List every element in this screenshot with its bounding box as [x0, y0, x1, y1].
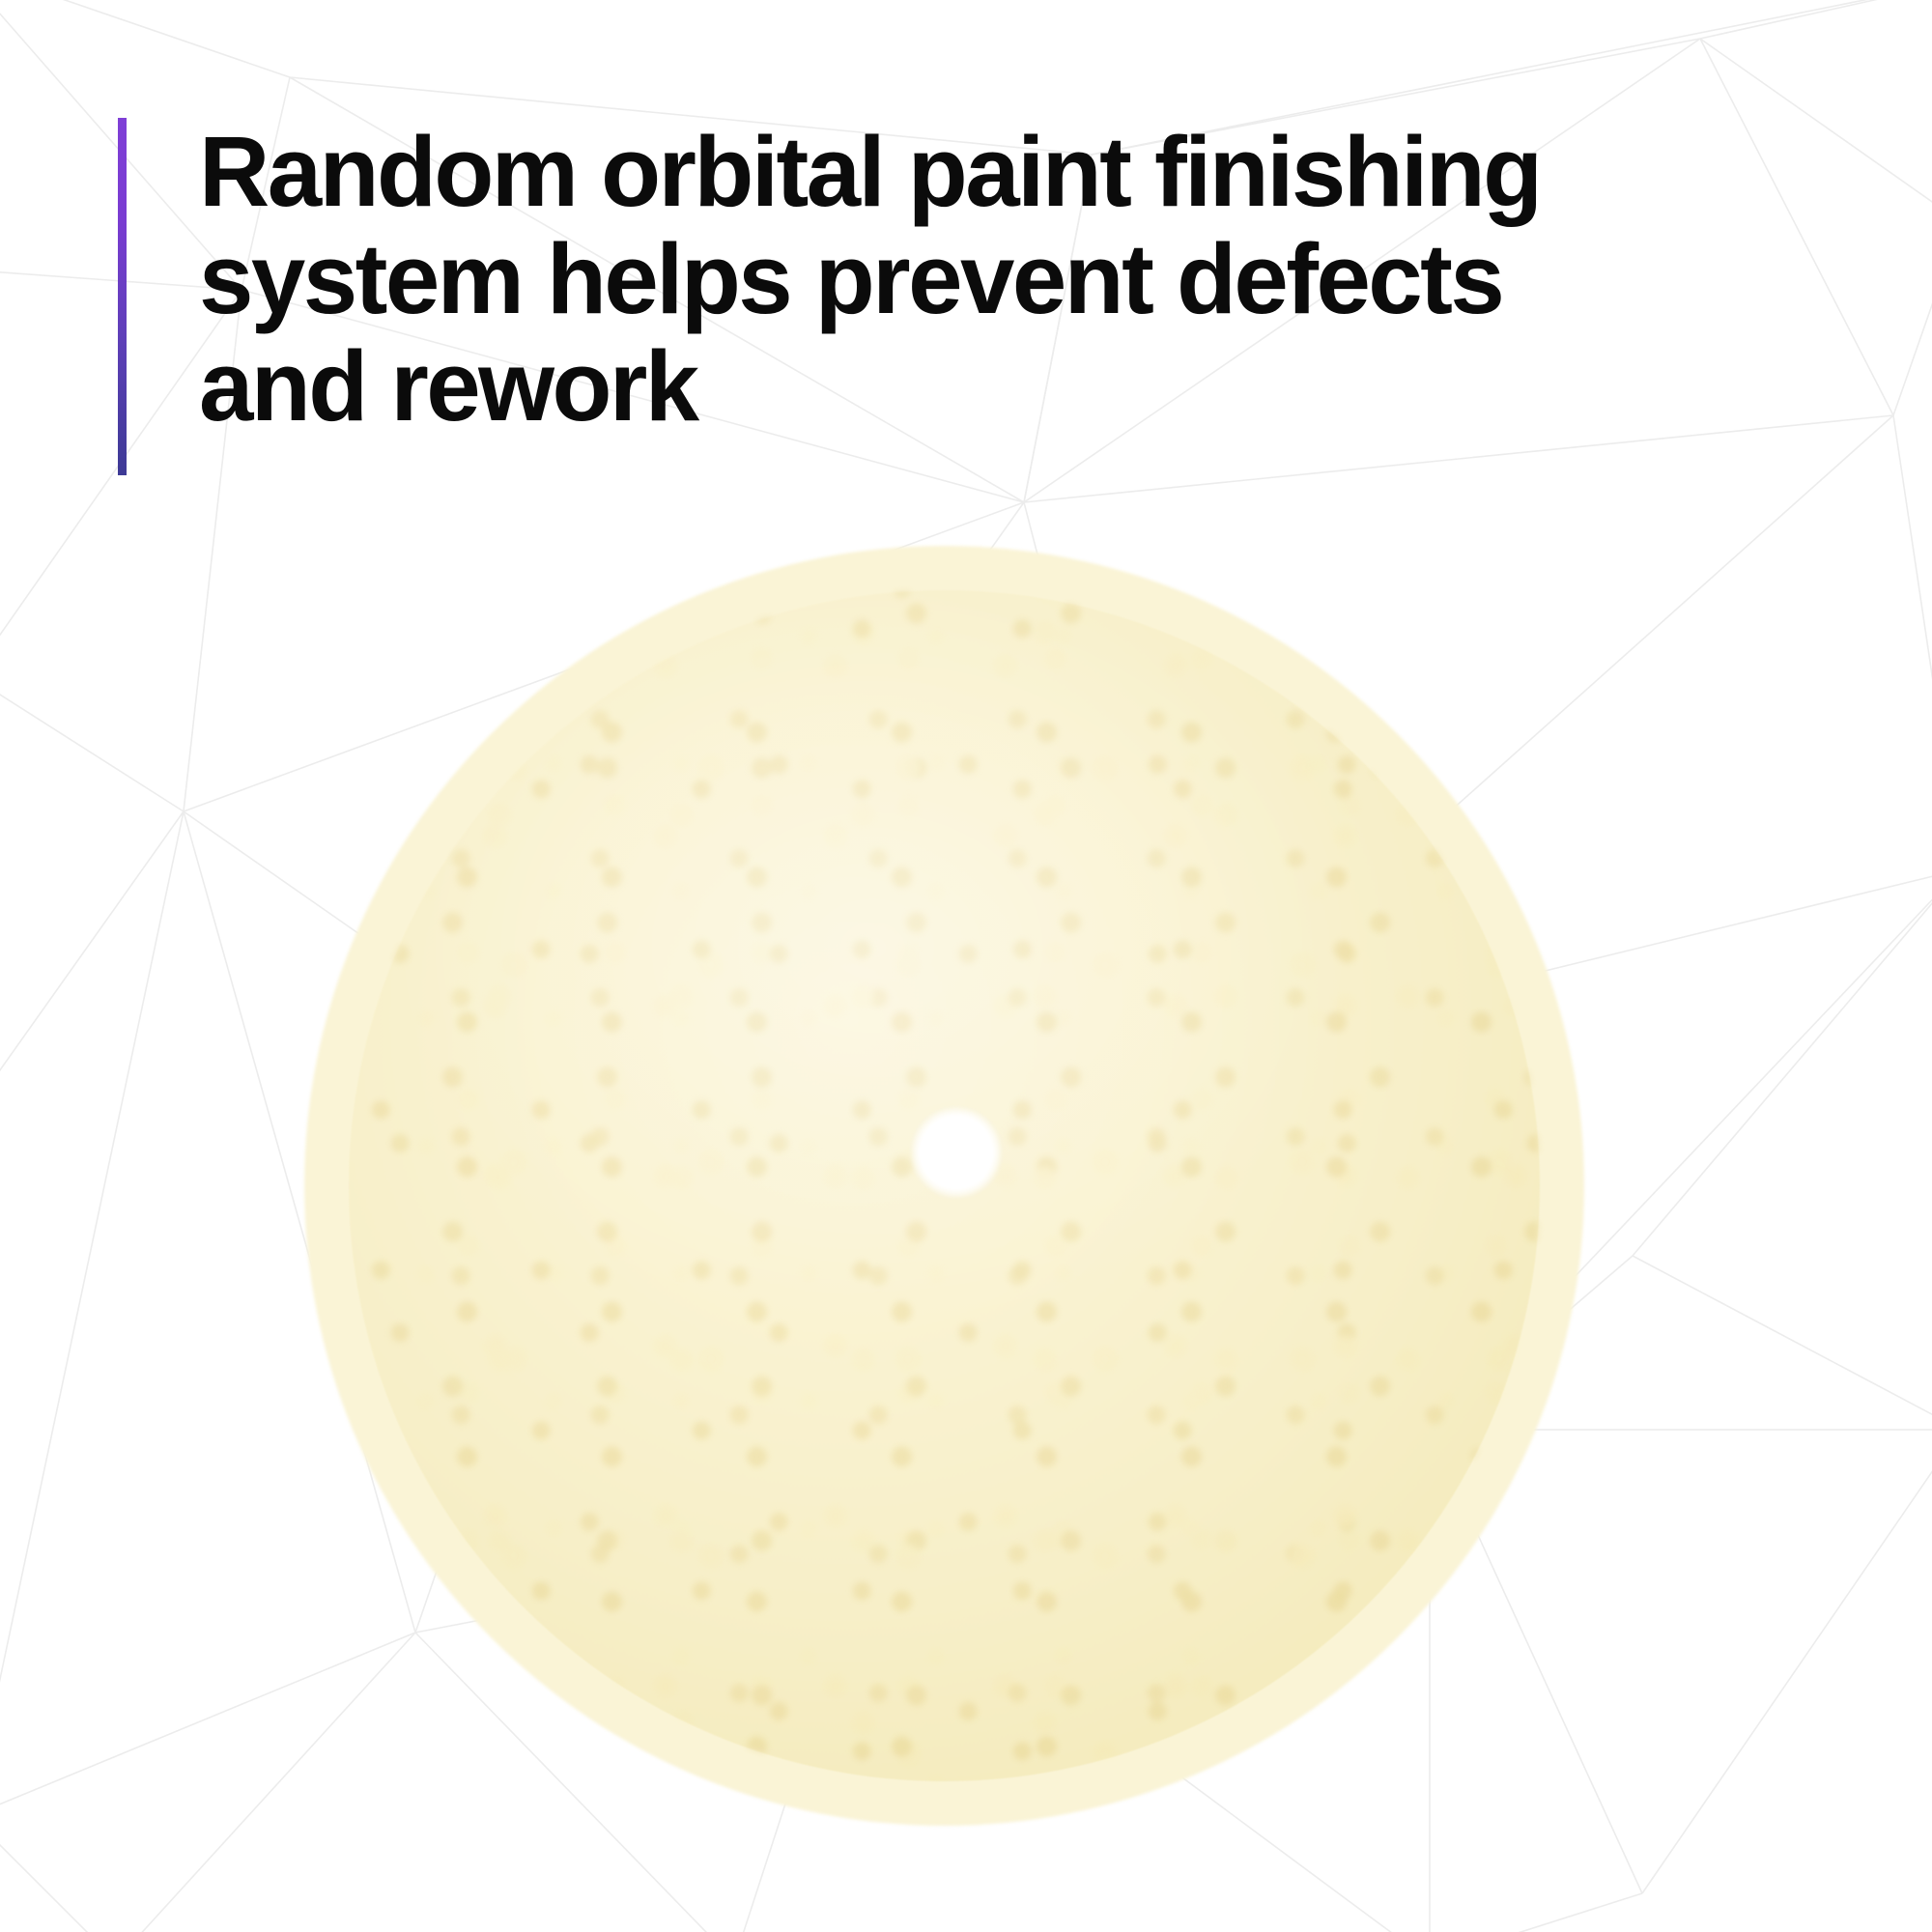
marketing-tile: Random orbital paint finishing system he… [0, 0, 1932, 1932]
product-image-wool-polishing-pad [304, 546, 1584, 1826]
headline-line-3: and rework [199, 332, 1541, 440]
headline-line-2: system helps prevent defects [199, 225, 1541, 332]
page-title: Random orbital paint finishing system he… [199, 118, 1561, 475]
headline-line-1: Random orbital paint finishing [199, 118, 1541, 225]
headline-block: Random orbital paint finishing system he… [118, 118, 1561, 475]
accent-bar [118, 118, 127, 475]
pad-center-hole [920, 1116, 993, 1189]
